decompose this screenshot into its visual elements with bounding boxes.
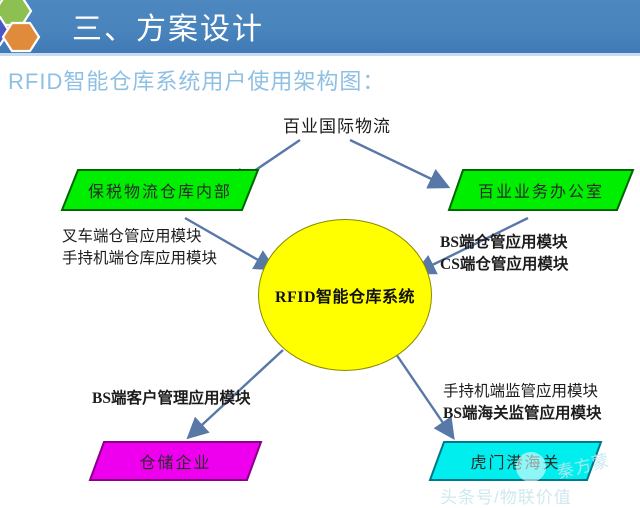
- modules-left-bottom: BS端客户管理应用模块: [92, 388, 250, 410]
- module-label: 手持机端仓库应用模块: [62, 248, 217, 270]
- node-bonded-warehouse-label: 保税物流仓库内部: [88, 178, 232, 202]
- node-business-office-label: 百业业务办公室: [478, 178, 604, 202]
- page-heading: RFID智能仓库系统用户使用架构图：: [8, 64, 385, 96]
- module-label: 手持机端监管应用模块: [443, 381, 601, 403]
- node-business-office[interactable]: 百业业务办公室: [447, 168, 635, 212]
- watermark-bottom: 头条号/物联价值: [440, 483, 572, 508]
- module-label: BS端仓管应用模块: [440, 232, 568, 254]
- modules-left-top: 叉车端仓管应用模块 手持机端仓库应用模块: [62, 226, 217, 271]
- node-storage-enterprise[interactable]: 仓储企业: [88, 440, 263, 482]
- module-label: BS端客户管理应用模块: [92, 388, 250, 410]
- modules-right-bottom: 手持机端监管应用模块 BS端海关监管应用模块: [443, 381, 601, 426]
- module-label: BS端海关监管应用模块: [443, 403, 601, 425]
- header-bar: 三、方案设计: [0, 0, 640, 53]
- watermark-badge-icon: [516, 452, 546, 482]
- module-label: 叉车端仓管应用模块: [62, 226, 217, 248]
- node-storage-enterprise-label: 仓储企业: [139, 449, 211, 473]
- hexagon-logo-icon: [0, 0, 76, 53]
- node-core-system[interactable]: RFID智能仓库系统: [258, 219, 432, 371]
- architecture-diagram: 百业国际物流 保税物流仓库内部 百业业务办公室 RFID智能仓库系统 叉车端仓管…: [0, 100, 640, 505]
- node-core-system-label: RFID智能仓库系统: [275, 283, 415, 307]
- node-bonded-warehouse[interactable]: 保税物流仓库内部: [60, 168, 260, 212]
- module-label: CS端仓管应用模块: [440, 254, 568, 276]
- header-underline: [0, 53, 640, 56]
- section-title: 三、方案设计: [72, 4, 264, 48]
- modules-right-top: BS端仓管应用模块 CS端仓管应用模块: [440, 232, 568, 277]
- node-source-label: 百业国际物流: [283, 112, 391, 137]
